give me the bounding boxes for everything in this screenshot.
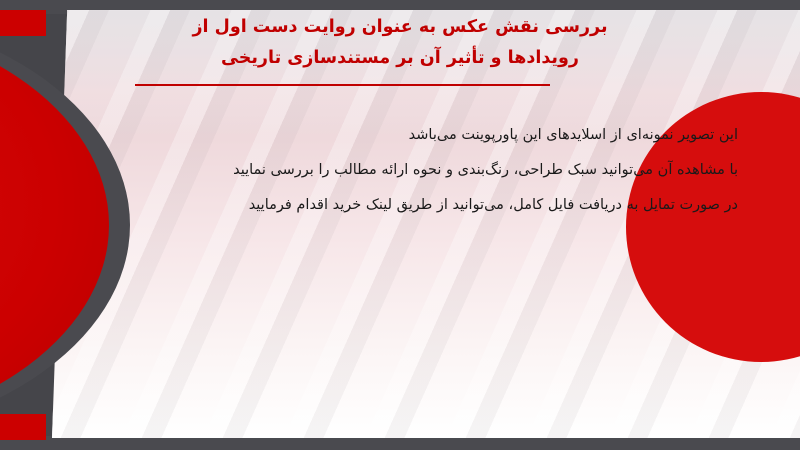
title-line-1: بررسی نقش عکس به عنوان روایت دست اول از: [120, 12, 680, 43]
title-line-2: رویدادها و تأثیر آن بر مستندسازی تاریخی: [120, 43, 680, 74]
title-underline-rule: [135, 84, 550, 86]
body-line-1: این تصویر نمونه‌ای از اسلایدهای این پاور…: [138, 118, 738, 153]
slide-title: بررسی نقش عکس به عنوان روایت دست اول از …: [120, 12, 680, 73]
body-line-3: در صورت تمایل به دریافت فایل کامل، می‌تو…: [138, 188, 738, 223]
slide-body: این تصویر نمونه‌ای از اسلایدهای این پاور…: [138, 118, 738, 223]
body-line-2: با مشاهده آن می‌توانید سبک طراحی، رنگ‌بن…: [138, 153, 738, 188]
slide-canvas: بررسی نقش عکس به عنوان روایت دست اول از …: [0, 0, 800, 450]
